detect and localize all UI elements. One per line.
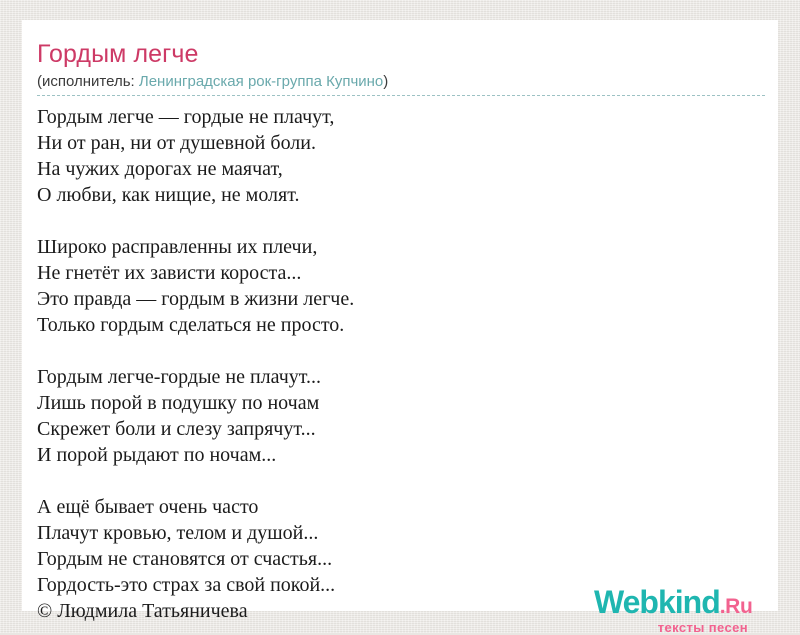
logo-kind-text: kind [658,584,720,620]
logo-domain-text: .Ru [720,595,753,618]
lyrics-text: Гордым легче — гордые не плачут, Ни от р… [37,104,757,624]
site-logo[interactable]: Webkind.Ru тексты песен [594,586,774,630]
logo-wordmark: Webkind.Ru [594,586,774,623]
artist-suffix-label: ) [383,73,388,90]
page-title: Гордым легче [37,40,765,69]
song-header: Гордым легче (исполнитель: Ленинградская… [37,40,765,96]
content-sheet: Гордым легче (исполнитель: Ленинградская… [22,20,778,611]
logo-web-text: Web [594,584,658,620]
artist-prefix-label: (исполнитель: [37,73,139,90]
artist-link[interactable]: Ленинградская рок-группа Купчино [139,73,383,90]
artist-line: (исполнитель: Ленинградская рок-группа К… [37,72,765,96]
